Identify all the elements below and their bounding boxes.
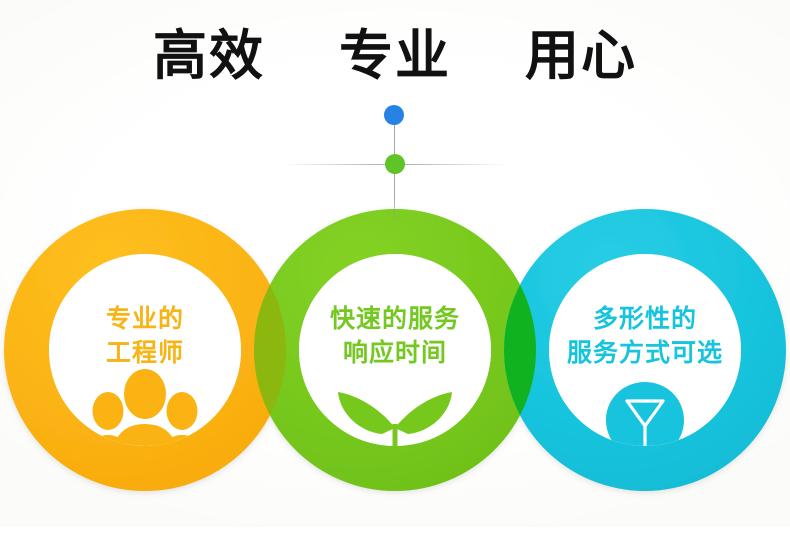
title-segment-3: 用心 (525, 28, 637, 85)
title-segment-2: 专业 (339, 28, 451, 85)
title-segment-1: 高效 (153, 28, 265, 85)
inner-disc-middle (299, 254, 491, 446)
page-title: 高效 专业 用心 (0, 28, 790, 85)
infographic-stage: 高效 专业 用心 (0, 0, 790, 557)
